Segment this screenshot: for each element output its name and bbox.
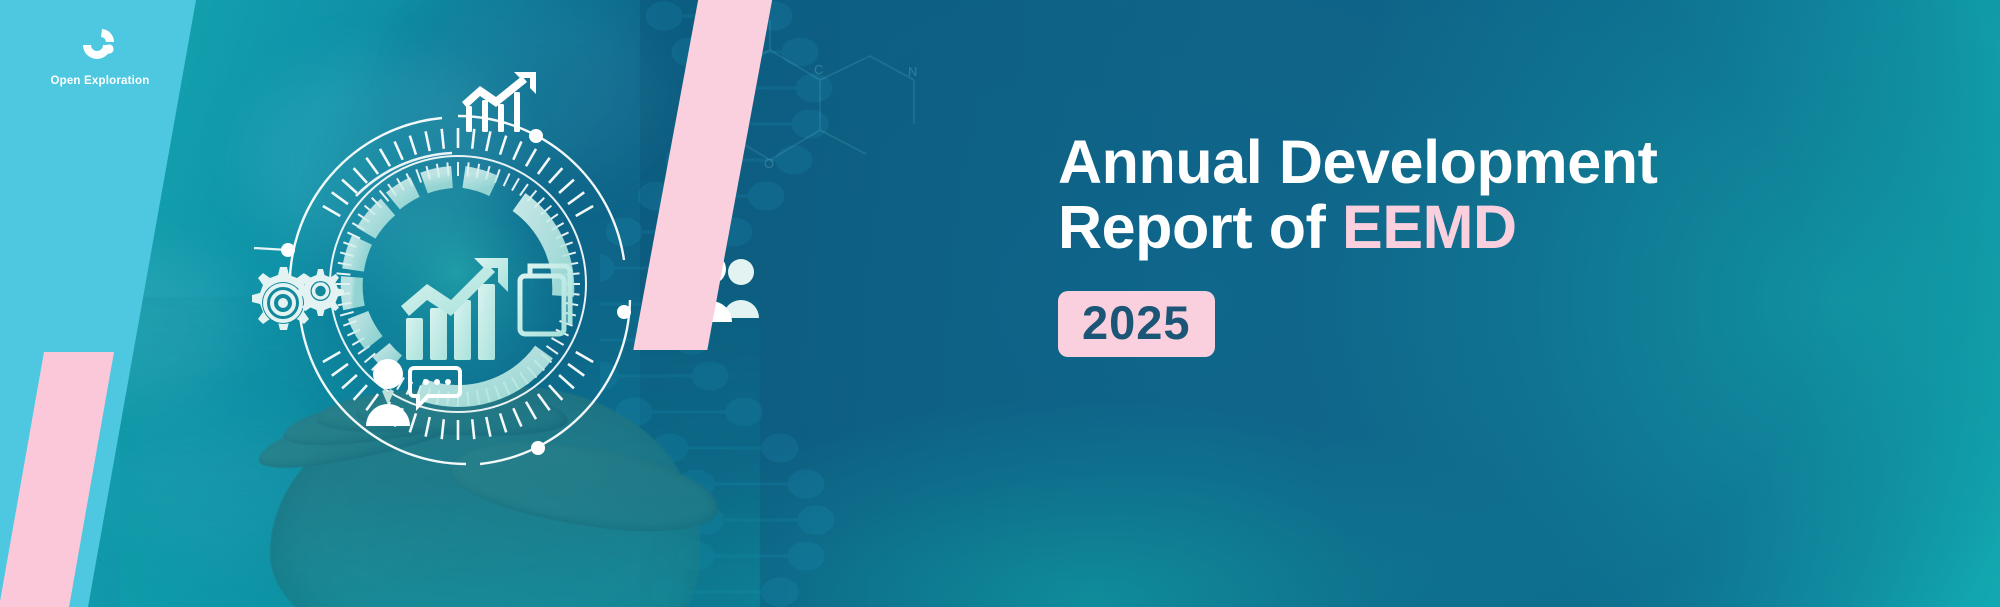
- open-exploration-swirl-logo: [74, 25, 126, 69]
- svg-text:O: O: [764, 156, 774, 171]
- gears-settings-icon: [240, 253, 352, 353]
- brand-name: Open Exploration: [30, 75, 170, 87]
- svg-text:N: N: [908, 64, 917, 79]
- growth-chart-arrow-icon: [452, 72, 544, 134]
- person-chat-bubble-icon: [358, 358, 462, 428]
- headline-line-2-prefix: Report of: [1058, 193, 1342, 261]
- headline-line-2: Report of EEMD: [1058, 195, 1918, 260]
- svg-text:C: C: [814, 62, 823, 77]
- headline-block: Annual Development Report of EEMD 2025: [1058, 130, 1918, 357]
- brand-logo[interactable]: Open Exploration: [30, 25, 170, 87]
- headline-line-1: Annual Development: [1058, 130, 1918, 195]
- year-badge: 2025: [1058, 291, 1215, 357]
- headline-accent-eemd: EEMD: [1342, 193, 1517, 261]
- banner-root: C C N O: [0, 0, 2000, 607]
